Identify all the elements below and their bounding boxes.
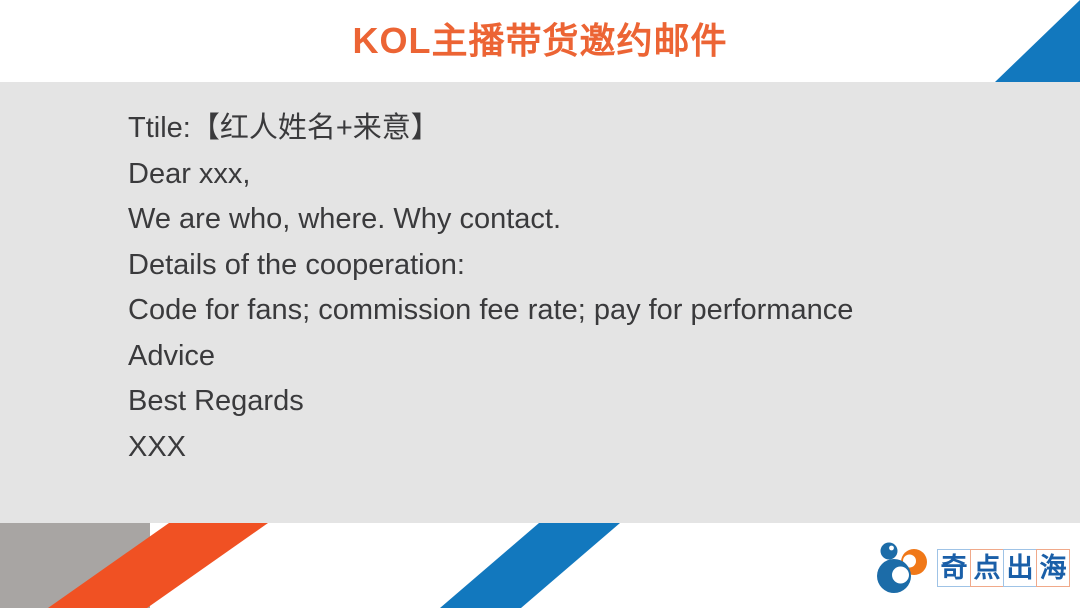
logo-char: 海 bbox=[1036, 549, 1070, 587]
body-line: Advice bbox=[128, 334, 1008, 380]
body-line: Best Regards bbox=[128, 379, 1008, 425]
body-line: Code for fans; commission fee rate; pay … bbox=[128, 288, 1008, 334]
body-line: XXX bbox=[128, 425, 1008, 471]
logo-char: 点 bbox=[970, 549, 1004, 587]
logo-char: 奇 bbox=[937, 549, 971, 587]
logo-mark-icon bbox=[872, 540, 932, 596]
blue-stripe-decoration bbox=[440, 523, 620, 608]
logo-wordmark: 奇 点 出 海 bbox=[938, 546, 1070, 590]
title-bar: KOL主播带货邀约邮件 bbox=[0, 0, 1080, 82]
body-line: We are who, where. Why contact. bbox=[128, 197, 1008, 243]
body-line: Ttile:【红人姓名+来意】 bbox=[128, 106, 1008, 152]
brand-logo: 奇 点 出 海 bbox=[872, 538, 1072, 598]
body-line: Dear xxx, bbox=[128, 152, 1008, 198]
logo-char: 出 bbox=[1003, 549, 1037, 587]
body-line: Details of the cooperation: bbox=[128, 243, 1008, 289]
email-template-body: Ttile:【红人姓名+来意】 Dear xxx, We are who, wh… bbox=[128, 106, 1008, 470]
slide-canvas: KOL主播带货邀约邮件 Ttile:【红人姓名+来意】 Dear xxx, We… bbox=[0, 0, 1080, 608]
page-title: KOL主播带货邀约邮件 bbox=[353, 23, 728, 59]
